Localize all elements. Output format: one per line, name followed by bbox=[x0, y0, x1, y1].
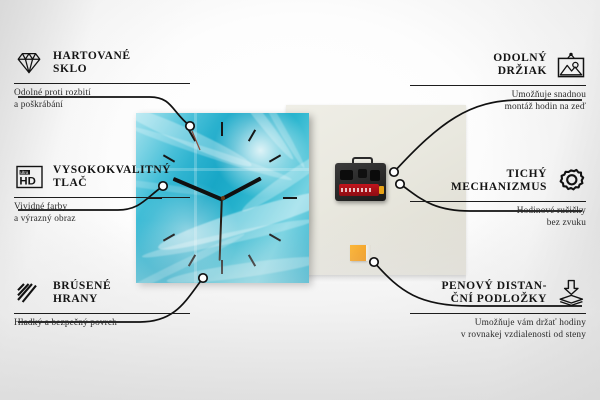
feature-header: PENOVÝ DISTAN- ČNÍ PODLOŽKY bbox=[410, 278, 586, 308]
foam-spacer-icon bbox=[556, 278, 586, 308]
feature-description: Umožňuje snadnou montáž hodin na zeď bbox=[410, 90, 586, 113]
picture-hanger-icon bbox=[556, 50, 586, 80]
feature-title: PENOVÝ DISTAN- ČNÍ PODLOŽKY bbox=[441, 280, 547, 307]
feature-description: Odolné proti rozbití a poškrábání bbox=[14, 88, 190, 111]
battery-label bbox=[341, 188, 371, 192]
feature-divider bbox=[410, 313, 586, 314]
clock-hand-hub bbox=[221, 196, 225, 200]
svg-text:ultra: ultra bbox=[20, 170, 29, 175]
feature-hardened-glass[interactable]: HARTOVANÉ SKLO Odolné proti rozbití a po… bbox=[14, 48, 190, 111]
mechanism-detail-mid bbox=[358, 169, 367, 178]
feature-high-quality-print[interactable]: ultra HD VYSOKOKVALITNÝ TLAČ Vividné far… bbox=[14, 162, 190, 225]
feature-divider bbox=[410, 201, 586, 202]
feature-header: TICHÝ MECHANIZMUS bbox=[410, 166, 586, 196]
feature-header: ODOLNÝ DRŽIAK bbox=[410, 50, 586, 80]
svg-text:HD: HD bbox=[19, 176, 35, 188]
feature-description: Hodinové ručičky bez zvuku bbox=[410, 206, 586, 229]
feature-silent-mechanism[interactable]: TICHÝ MECHANIZMUS Hodinové ručičky bez z… bbox=[410, 166, 586, 229]
feature-title: TICHÝ MECHANIZMUS bbox=[451, 168, 547, 195]
feature-foam-spacers[interactable]: PENOVÝ DISTAN- ČNÍ PODLOŽKY Umožňuje vám… bbox=[410, 278, 586, 341]
mechanism-detail-right bbox=[370, 170, 380, 181]
feature-description: Hladký a bezpečný povrch bbox=[14, 318, 190, 330]
gear-icon bbox=[556, 166, 586, 196]
battery-terminal bbox=[379, 186, 384, 194]
feature-divider bbox=[14, 313, 190, 314]
clock-mechanism bbox=[335, 163, 386, 201]
feature-header: HARTOVANÉ SKLO bbox=[14, 48, 190, 78]
foam-spacer-pad bbox=[350, 245, 366, 261]
ground-edges-icon bbox=[14, 278, 44, 308]
feature-durable-hanger[interactable]: ODOLNÝ DRŽIAK Umožňuje snadnou montáž ho… bbox=[410, 50, 586, 113]
feature-description: Vividné farby a výrazný obraz bbox=[14, 202, 190, 225]
infographic-canvas: HARTOVANÉ SKLO Odolné proti rozbití a po… bbox=[0, 0, 600, 400]
feature-header: BRÚSENÉ HRANY bbox=[14, 278, 190, 308]
mechanism-detail-left bbox=[340, 170, 353, 180]
feature-description: Umožňuje vám držať hodiny v rovnakej vzd… bbox=[410, 318, 586, 341]
feature-title: BRÚSENÉ HRANY bbox=[53, 280, 111, 307]
feature-header: ultra HD VYSOKOKVALITNÝ TLAČ bbox=[14, 162, 190, 192]
feature-title: HARTOVANÉ SKLO bbox=[53, 50, 131, 77]
foam-spacer-pad-side bbox=[366, 245, 371, 261]
feature-title: VYSOKOKVALITNÝ TLAČ bbox=[53, 164, 171, 191]
ultra-hd-icon: ultra HD bbox=[14, 162, 44, 192]
feature-divider bbox=[14, 83, 190, 84]
feature-divider bbox=[410, 85, 586, 86]
feature-divider bbox=[14, 197, 190, 198]
diamond-icon bbox=[14, 48, 44, 78]
feature-title: ODOLNÝ DRŽIAK bbox=[493, 52, 547, 79]
feature-ground-edges[interactable]: BRÚSENÉ HRANY Hladký a bezpečný povrch bbox=[14, 278, 190, 330]
